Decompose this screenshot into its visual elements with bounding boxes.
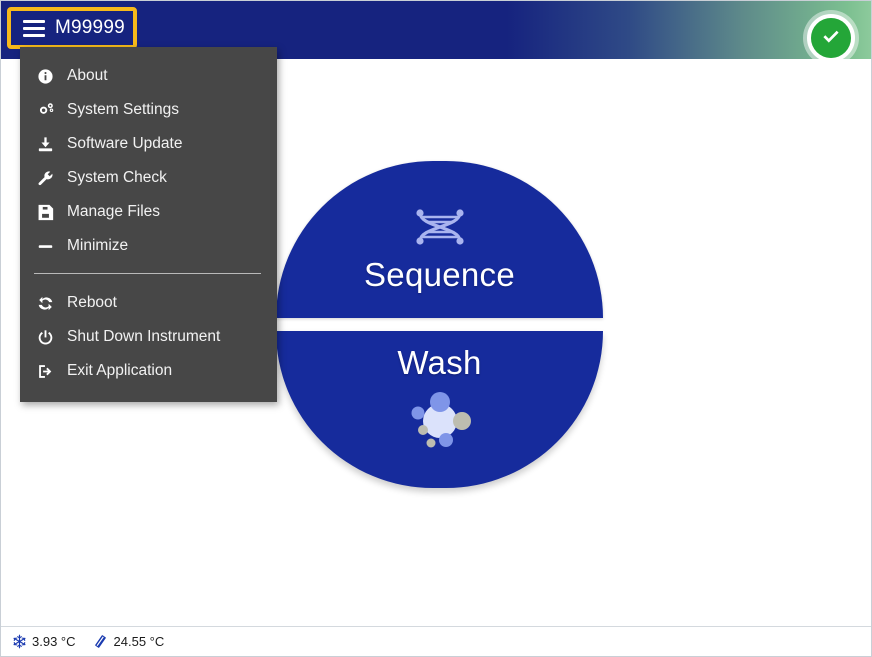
action-wheel: Sequence Wash <box>276 161 603 488</box>
gears-icon <box>34 101 56 119</box>
exit-icon <box>34 363 56 380</box>
flowcell-temperature-reading: 24.55 °C <box>92 633 165 651</box>
main-menu-toggle[interactable]: M99999 <box>7 7 137 49</box>
menu-item-label: About <box>67 67 108 85</box>
menu-item-label: Exit Application <box>67 362 172 380</box>
menu-item-label: Manage Files <box>67 203 160 221</box>
chiller-temperature-value: 3.93 °C <box>32 634 76 649</box>
status-bar: 3.93 °C 24.55 °C <box>1 626 872 656</box>
menu-item-exit-application[interactable]: Exit Application <box>20 354 277 388</box>
menu-item-system-settings[interactable]: System Settings <box>20 93 277 127</box>
snowflake-icon <box>10 633 28 651</box>
menu-item-label: Software Update <box>67 135 182 153</box>
menu-item-system-check[interactable]: System Check <box>20 161 277 195</box>
dna-helix-icon <box>409 207 471 252</box>
floppy-disk-icon <box>34 204 56 221</box>
menu-item-software-update[interactable]: Software Update <box>20 127 277 161</box>
menu-separator <box>34 273 261 274</box>
menu-item-manage-files[interactable]: Manage Files <box>20 195 277 229</box>
wash-button[interactable]: Wash <box>276 331 603 488</box>
info-circle-icon <box>34 68 56 85</box>
status-check-badge[interactable] <box>803 10 859 66</box>
application-window: M99999 About <box>0 0 872 657</box>
flowcell-temperature-value: 24.55 °C <box>114 634 165 649</box>
menu-item-label: System Settings <box>67 101 179 119</box>
check-circle-icon <box>820 27 842 49</box>
sequence-button-label: Sequence <box>364 256 515 294</box>
bubbles-icon <box>405 388 475 455</box>
wash-button-label: Wash <box>397 344 481 382</box>
menu-item-label: Reboot <box>67 294 117 312</box>
menu-item-reboot[interactable]: Reboot <box>20 286 277 320</box>
sequence-button[interactable]: Sequence <box>276 161 603 318</box>
power-icon <box>34 329 56 346</box>
minimize-icon <box>34 238 56 255</box>
instrument-name-label: M99999 <box>55 17 125 39</box>
wrench-icon <box>34 170 56 187</box>
download-icon <box>34 136 56 153</box>
main-menu-panel: About System Settings <box>20 47 277 402</box>
chiller-temperature-reading: 3.93 °C <box>10 633 76 651</box>
flowcell-icon <box>92 633 110 651</box>
status-badge-ring <box>807 14 855 62</box>
status-badge-disc <box>811 18 851 58</box>
menu-item-shut-down-instrument[interactable]: Shut Down Instrument <box>20 320 277 354</box>
refresh-icon <box>34 295 56 312</box>
menu-item-label: Shut Down Instrument <box>67 328 220 346</box>
menu-item-label: Minimize <box>67 237 128 255</box>
menu-item-about[interactable]: About <box>20 59 277 93</box>
menu-item-label: System Check <box>67 169 167 187</box>
hamburger-icon <box>23 20 45 37</box>
menu-item-minimize[interactable]: Minimize <box>20 229 277 263</box>
